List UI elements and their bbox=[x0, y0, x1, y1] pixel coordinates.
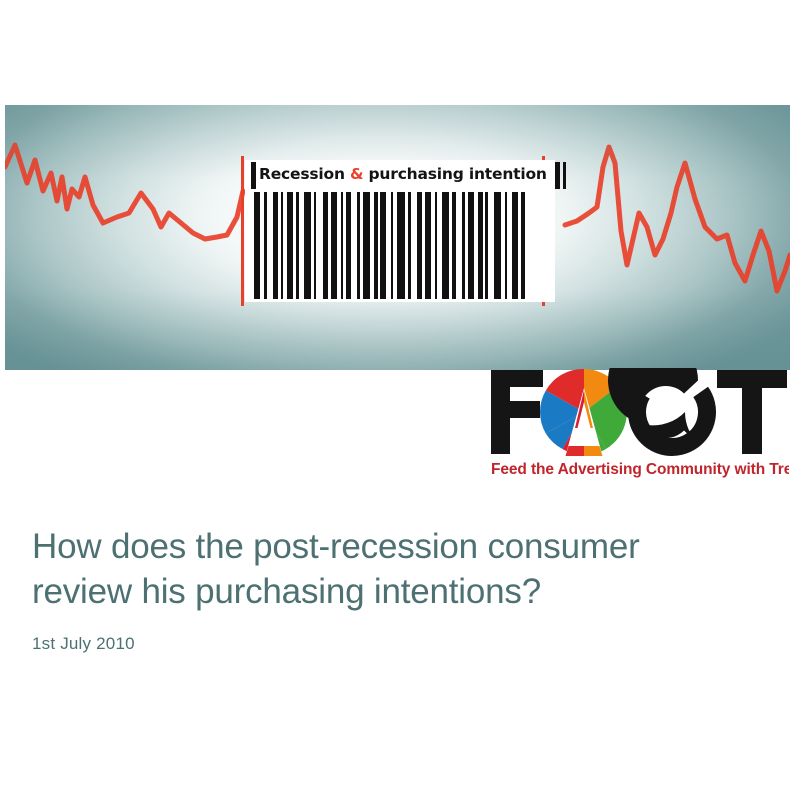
page-date: 1st July 2010 bbox=[32, 634, 762, 654]
barcode-bar-icon bbox=[555, 162, 560, 189]
hero-banner: Recession & purchasing intention bbox=[5, 105, 790, 370]
barcode-caption: Recession & purchasing intention bbox=[256, 167, 550, 183]
barcode-caption-row: Recession & purchasing intention bbox=[245, 160, 555, 190]
barcode-inner: Recession & purchasing intention bbox=[245, 160, 555, 302]
logo-tagline: Feed the Advertising Community with Tren… bbox=[491, 461, 789, 478]
barcode-bar-icon bbox=[563, 162, 566, 189]
chart-line-left bbox=[5, 145, 243, 239]
page-title-line-1: How does the post-recession consumer bbox=[32, 527, 640, 566]
barcode-caption-ampersand: & bbox=[350, 165, 363, 183]
page-title: How does the post-recession consumer rev… bbox=[32, 524, 762, 614]
title-block: How does the post-recession consumer rev… bbox=[32, 524, 762, 654]
barcode-bars bbox=[254, 192, 547, 299]
barcode-graphic: Recession & purchasing intention bbox=[239, 160, 561, 302]
barcode-rail-left-icon bbox=[241, 156, 244, 306]
page-title-line-2: review his purchasing intentions? bbox=[32, 572, 541, 611]
logo-letter-t bbox=[717, 370, 787, 454]
logo-letter-f bbox=[491, 370, 543, 454]
barcode-caption-prefix: Recession bbox=[259, 165, 350, 183]
barcode-caption-suffix: purchasing intention bbox=[363, 165, 546, 183]
fact-logo: Feed the Advertising Community with Tren… bbox=[489, 368, 789, 480]
fact-logo-svg: Feed the Advertising Community with Tren… bbox=[489, 368, 789, 480]
chart-line-right bbox=[565, 147, 790, 291]
